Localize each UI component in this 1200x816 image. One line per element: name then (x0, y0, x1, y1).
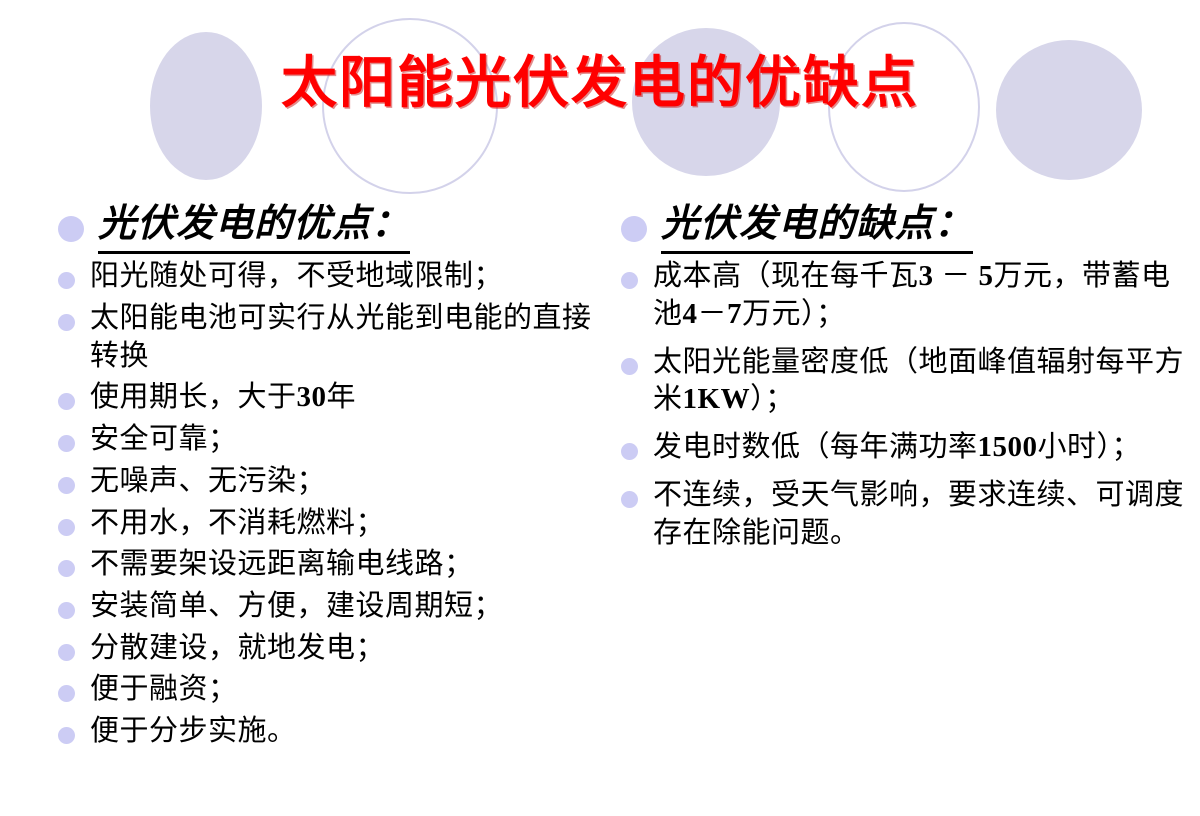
slide-body: 光伏发电的优点： 阳光随处可得，不受地域限制； 太阳能电池可实行从光能到电能的直… (0, 196, 1200, 816)
list-item-text: 便于融资； (90, 671, 238, 709)
list-item: 太阳光能量密度低（地面峰值辐射每平方米1KW）； (621, 344, 1190, 419)
list-item: 便于分步实施。 (58, 713, 609, 751)
disadvantages-heading: 光伏发电的缺点： (661, 200, 973, 254)
list-item-text: 发电时数低（每年满功率1500小时）； (653, 429, 1141, 467)
list-item-text: 太阳能电池可实行从光能到电能的直接转换 (90, 300, 609, 375)
bullet-dot-icon (58, 519, 75, 536)
list-item: 阳光随处可得，不受地域限制； (58, 258, 609, 296)
list-item-text: 不用水，不消耗燃料； (90, 505, 385, 543)
list-item: 不连续，受天气影响，要求连续、可调度存在除能问题。 (621, 477, 1190, 552)
list-item: 安装简单、方便，建设周期短； (58, 588, 609, 626)
list-item: 太阳能电池可实行从光能到电能的直接转换 (58, 300, 609, 375)
list-item: 不用水，不消耗燃料； (58, 505, 609, 543)
list-item: 无噪声、无污染； (58, 463, 609, 501)
list-item: 安全可靠； (58, 421, 609, 459)
list-item: 发电时数低（每年满功率1500小时）； (621, 429, 1190, 467)
bullet-dot-icon (58, 602, 75, 619)
bullet-dot-icon (58, 560, 75, 577)
advantages-column: 光伏发电的优点： 阳光随处可得，不受地域限制； 太阳能电池可实行从光能到电能的直… (0, 196, 615, 755)
bullet-dot-icon (58, 216, 84, 242)
bullet-dot-icon (621, 443, 638, 460)
bullet-dot-icon (58, 477, 75, 494)
list-item-text: 使用期长，大于30年 (90, 379, 356, 417)
list-item-text: 不需要架设远距离输电线路； (90, 546, 474, 584)
list-item-text: 无噪声、无污染； (90, 463, 326, 501)
list-item-text: 便于分步实施。 (90, 713, 297, 751)
list-item-text: 分散建设，就地发电； (90, 630, 385, 668)
slide-title-container: 太阳能光伏发电的优缺点 (0, 52, 1200, 116)
bullet-dot-icon (621, 216, 647, 242)
bullet-dot-icon (621, 272, 638, 289)
presentation-slide: 太阳能光伏发电的优缺点 光伏发电的优点： 阳光随处可得，不受地域限制； 太阳能电… (0, 0, 1200, 816)
disadvantages-heading-row: 光伏发电的缺点： (621, 200, 1190, 254)
bullet-dot-icon (58, 435, 75, 452)
bullet-dot-icon (58, 727, 75, 744)
disadvantages-column: 光伏发电的缺点： 成本高（现在每千瓦3 － 5万元，带蓄电池4－7万元）； 太阳… (615, 196, 1200, 562)
list-item: 使用期长，大于30年 (58, 379, 609, 417)
bullet-dot-icon (58, 272, 75, 289)
advantages-heading: 光伏发电的优点： (98, 200, 410, 254)
list-item-text: 安装简单、方便，建设周期短； (90, 588, 503, 626)
list-item: 不需要架设远距离输电线路； (58, 546, 609, 584)
list-item-text: 安全可靠； (90, 421, 238, 459)
list-item-text: 阳光随处可得，不受地域限制； (90, 258, 503, 296)
slide-title: 太阳能光伏发电的优缺点 (281, 52, 919, 116)
bullet-dot-icon (58, 393, 75, 410)
bullet-dot-icon (58, 644, 75, 661)
list-item-text: 不连续，受天气影响，要求连续、可调度存在除能问题。 (653, 477, 1190, 552)
advantages-heading-row: 光伏发电的优点： (58, 200, 609, 254)
list-item-text: 太阳光能量密度低（地面峰值辐射每平方米1KW）； (653, 344, 1190, 419)
list-item-text: 成本高（现在每千瓦3 － 5万元，带蓄电池4－7万元）； (653, 258, 1190, 333)
bullet-dot-icon (621, 358, 638, 375)
bullet-dot-icon (58, 685, 75, 702)
list-item: 分散建设，就地发电； (58, 630, 609, 668)
bullet-dot-icon (58, 314, 75, 331)
bullet-dot-icon (621, 491, 638, 508)
list-item: 便于融资； (58, 671, 609, 709)
list-item: 成本高（现在每千瓦3 － 5万元，带蓄电池4－7万元）； (621, 258, 1190, 333)
